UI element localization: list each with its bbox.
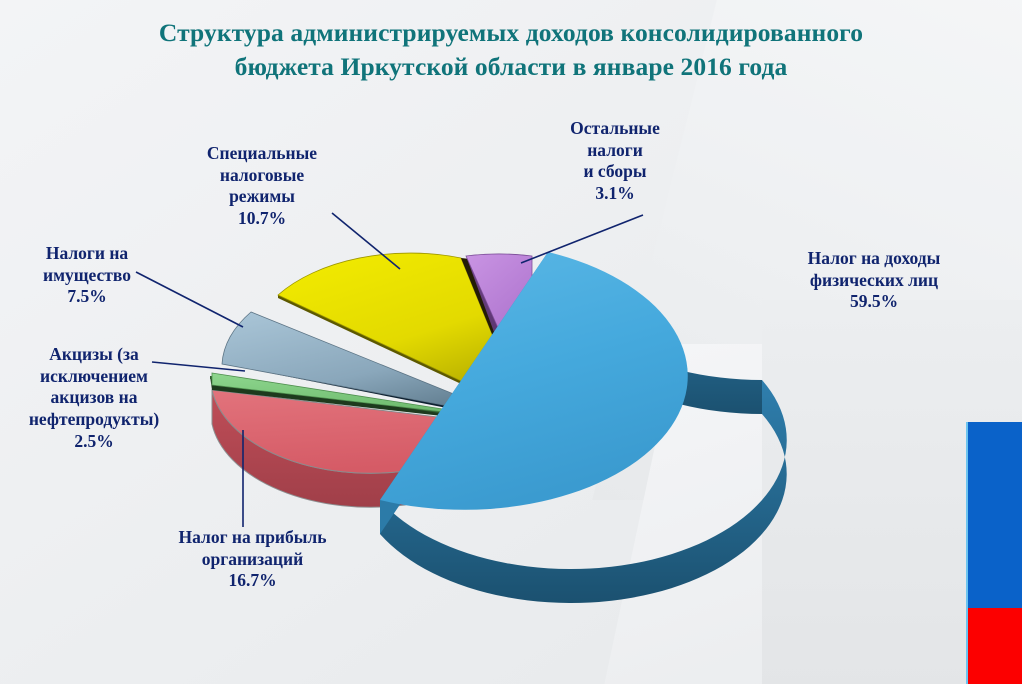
flag-band-blue (968, 422, 1022, 608)
flag-band-red (968, 608, 1022, 684)
label-special-regimes: Специальные налоговые режимы 10.7% (172, 143, 352, 230)
russian-flag-decoration (966, 422, 1022, 684)
label-excise-tax: Акцизы (за исключением акцизов на нефтеп… (0, 344, 188, 452)
label-income-tax: Налог на доходы физических лиц 59.5% (760, 248, 988, 313)
label-profit-tax: Налог на прибыль организаций 16.7% (145, 527, 360, 592)
label-other-taxes: Остальные налоги и сборы 3.1% (520, 118, 710, 205)
slide-canvas: Структура администрируемых доходов консо… (0, 0, 1022, 684)
leader-line-other (521, 215, 643, 263)
label-property-tax: Налоги на имущество 7.5% (2, 243, 172, 308)
